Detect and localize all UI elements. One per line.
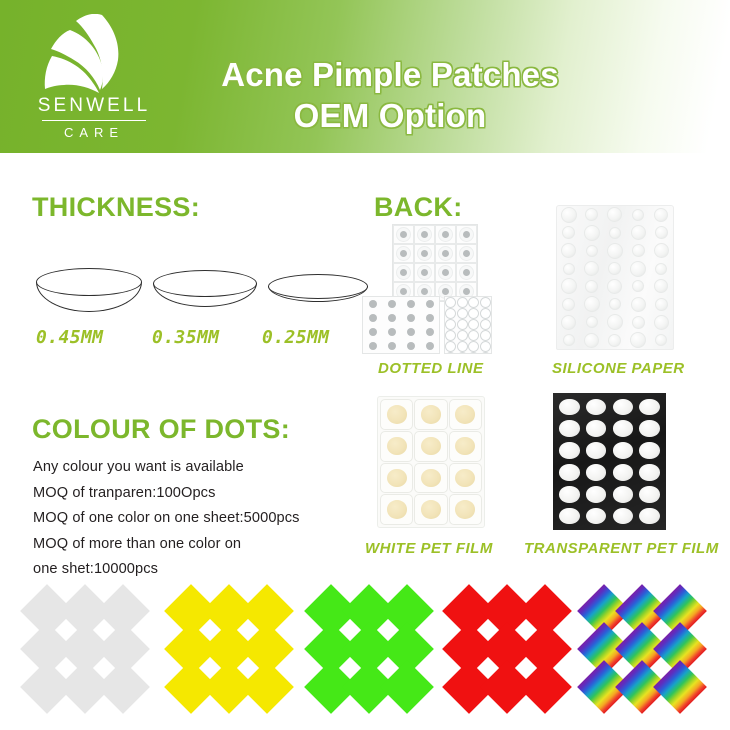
silicone-dot [586,316,598,328]
silicone-cell [580,206,603,224]
silicone-cell [557,206,580,224]
colour-line-5: one shet:10000pcs [33,557,373,583]
transparent-dot [613,486,633,503]
transparent-pet-cell [583,396,610,418]
thickness-label-025: 0.25MM [262,327,329,348]
silicone-cell [650,206,673,224]
transparent-pet-cell [636,462,663,484]
transparent-dot [559,508,579,525]
transparent-pet-cell [636,483,663,505]
patch-dot [369,314,377,322]
patch-dot [442,269,449,276]
transparent-pet-cell [556,396,583,418]
white-pet-patch [449,431,482,462]
hydrocolloid-dot [455,405,475,423]
silicone-dot [607,279,622,294]
transparent-dot [639,399,659,416]
swatch-diamond [653,660,707,714]
white-pet-patch [414,399,447,430]
patch-dot [421,231,428,238]
caption-silicone-paper: SILICONE PAPER [552,360,685,377]
patch-dot-cell [457,352,469,354]
white-pet-film-photo [377,396,485,528]
logo-wordmark: SENWELL [24,96,164,115]
silicone-cell [603,331,626,349]
colour-line-1: Any colour you want is available [33,455,373,481]
patch-dot-cell [382,311,401,325]
silicone-dot [608,334,621,347]
transparent-pet-cell [583,418,610,440]
colour-swatch-rainbow [585,592,707,710]
patch-outline-dot [445,308,456,319]
white-pet-patch [380,431,413,462]
silicone-cell [557,295,580,313]
back-heading: BACK: [374,192,463,223]
patch-dot-cell [457,341,469,352]
white-pet-patch [380,463,413,494]
silicone-dot [584,296,600,312]
white-pet-patch [449,399,482,430]
patch-dot [421,269,428,276]
silicone-dot [632,316,645,329]
transparent-dot [559,486,579,503]
patch-dot-cell [382,297,401,311]
patch-dot-cell [468,308,480,319]
patch-dot-cell [456,263,477,282]
dotted-line-sheet-right [444,296,492,354]
colour-line-4: MOQ of more than one color on [33,532,373,558]
silicone-cell [603,295,626,313]
silicone-cell [650,224,673,242]
patch-dot [463,231,470,238]
transparent-dot [586,399,606,416]
silicone-dot [607,314,623,330]
silicone-cell [580,331,603,349]
patch-outline-dot [457,308,468,319]
page-header: SENWELL CARE Acne Pimple Patches OEM Opt… [0,0,730,153]
white-pet-patch [414,431,447,462]
leaf-flame-icon [40,14,144,94]
silicone-dot [632,209,644,221]
silicone-cell [627,313,650,331]
colour-heading: COLOUR OF DOTS: [32,414,290,445]
transparent-dot [586,420,606,437]
transparent-dot [639,486,659,503]
patch-dot [388,342,396,350]
hydrocolloid-dot [421,405,441,423]
patch-dot [369,328,377,336]
swatch-diamond [240,660,294,714]
caption-transparent-pet-film: TRANSPARENT PET FILM [524,540,719,557]
silicone-cell [557,313,580,331]
patch-dot-cell [468,319,480,330]
patch-dot [442,250,449,257]
hydrocolloid-dot [421,469,441,487]
patch-outline-dot [468,352,479,354]
patch-dot-cell [457,330,469,341]
patch-dot-cell [363,325,382,339]
swatch-diamond [96,660,150,714]
silicone-cell [627,331,650,349]
silicone-dot [563,334,575,346]
silicone-dot [655,226,668,239]
silicone-cell [580,278,603,296]
thickness-heading: THICKNESS: [32,192,200,223]
patch-dot-cell [435,263,456,282]
silicone-cell [580,313,603,331]
transparent-dot [639,464,659,481]
silicone-dot [630,261,646,277]
patch-outline-dot [480,352,491,354]
silicone-dot [562,226,575,239]
white-pet-patch [449,494,482,525]
dotted-line-sheet-top [392,224,478,302]
silicone-cell [557,224,580,242]
patch-dot [400,269,407,276]
patch-dot-cell [363,297,382,311]
patch-dot-cell [468,352,480,354]
hydrocolloid-dot [387,469,407,487]
patch-dot-cell [457,297,469,308]
patch-dot-cell [457,319,469,330]
silicone-cell [603,260,626,278]
patch-outline-dot [457,341,468,352]
patch-dot [407,342,415,350]
patch-dot-cell [480,330,492,341]
transparent-dot [559,399,579,416]
transparent-pet-cell [610,396,637,418]
patch-dot-cell [445,330,457,341]
silicone-dot [585,280,598,293]
silicone-dot [607,243,623,259]
transparent-dot [639,420,659,437]
silicone-cell [650,260,673,278]
dotted-line-sheet-left [362,296,440,354]
patch-outline-dot [468,330,479,341]
patch-dot-cell [445,341,457,352]
hydrocolloid-dot [455,500,475,518]
patch-dot-cell [393,225,414,244]
colour-line-3: MOQ of one color on one sheet:5000pcs [33,506,373,532]
silicone-cell [580,295,603,313]
patch-outline-dot [468,308,479,319]
patch-dot-cell [401,311,420,325]
hydrocolloid-dot [387,405,407,423]
hydrocolloid-dot [421,437,441,455]
silicone-dot [654,243,669,258]
title-line-2: OEM Option [150,96,630,137]
transparent-dot [559,442,579,459]
patch-dot-cell [393,263,414,282]
silicone-dot [609,227,621,239]
patch-dot [388,328,396,336]
patch-dot [421,250,428,257]
transparent-pet-cell [636,418,663,440]
patch-dot [426,314,434,322]
hydrocolloid-dot [387,437,407,455]
transparent-pet-cell [610,418,637,440]
white-pet-patch [414,494,447,525]
silicone-cell [603,206,626,224]
silicone-dot [586,245,598,257]
silicone-dot [655,263,667,275]
transparent-pet-cell [636,440,663,462]
patch-dot-cell [393,244,414,263]
transparent-dot [559,420,579,437]
patch-dot-cell [435,244,456,263]
patch-dot-cell [468,330,480,341]
silicone-cell [650,278,673,296]
transparent-dot [559,464,579,481]
silicone-dot [631,297,646,312]
patch-dot-cell [456,225,477,244]
transparent-dot [613,399,633,416]
transparent-pet-cell [556,462,583,484]
disc-025 [268,274,368,312]
disc-045 [36,268,142,316]
patch-outline-dot [445,330,456,341]
silicone-dot [562,298,575,311]
patch-dot [407,300,415,308]
transparent-pet-cell [610,483,637,505]
patch-dot-cell [480,308,492,319]
transparent-pet-cell [636,505,663,527]
silicone-cell [603,224,626,242]
silicone-cell [650,242,673,260]
patch-outline-dot [457,297,468,308]
patch-dot-cell [414,225,435,244]
transparent-pet-cell [556,505,583,527]
patch-dot [400,250,407,257]
silicone-cell [580,260,603,278]
white-pet-patch [380,494,413,525]
thickness-label-045: 0.45MM [36,327,103,348]
silicone-cell [580,242,603,260]
transparent-dot [586,442,606,459]
silicone-dot [608,262,621,275]
silicone-dot [585,208,598,221]
silicone-cell [650,313,673,331]
patch-dot [463,269,470,276]
patch-dot [426,328,434,336]
logo-subtext: CARE [24,126,164,139]
patch-dot-cell [445,297,457,308]
patch-outline-dot [445,319,456,330]
patch-dot-cell [480,341,492,352]
silicone-dot [561,207,577,223]
silicone-cell [580,224,603,242]
hydrocolloid-dot [387,500,407,518]
patch-dot-cell [401,297,420,311]
transparent-pet-cell [556,440,583,462]
patch-dot-cell [414,244,435,263]
transparent-dot [613,464,633,481]
transparent-pet-cell [610,462,637,484]
transparent-dot [613,508,633,525]
silicone-dot [632,280,644,292]
patch-dot [400,231,407,238]
transparent-pet-cell [556,418,583,440]
patch-dot-cell [420,297,439,311]
silicone-cell [603,278,626,296]
patch-outline-dot [445,352,456,354]
patch-dot [388,300,396,308]
silicone-cell [627,206,650,224]
title-line-1: Acne Pimple Patches [221,56,559,93]
hydrocolloid-dot [455,437,475,455]
transparent-dot [639,442,659,459]
colour-swatch-green [312,592,434,710]
silicone-cell [603,242,626,260]
transparent-pet-film-photo [553,393,666,530]
swatch-diamond [518,660,572,714]
patch-dot [421,288,428,295]
logo-divider [42,120,146,121]
silicone-cell [650,331,673,349]
transparent-dot [586,464,606,481]
transparent-pet-cell [610,440,637,462]
silicone-dot [631,225,646,240]
patch-dot-cell [401,325,420,339]
brand-logo: SENWELL CARE [24,14,164,142]
patch-outline-dot [457,352,468,354]
patch-dot-cell [420,311,439,325]
patch-dot-cell [456,244,477,263]
patch-outline-dot [468,297,479,308]
patch-dot [369,300,377,308]
patch-dot-cell [480,319,492,330]
transparent-dot [613,420,633,437]
silicone-dot [584,261,599,276]
silicone-cell [627,278,650,296]
patch-dot-cell [435,225,456,244]
patch-outline-dot [445,297,456,308]
transparent-pet-cell [583,483,610,505]
hydrocolloid-dot [455,469,475,487]
caption-dotted-line: DOTTED LINE [378,360,484,377]
silicone-dot [655,298,668,311]
patch-outline-dot [480,319,491,330]
patch-dot [442,231,449,238]
patch-outline-dot [457,319,468,330]
patch-dot-cell [414,263,435,282]
patch-outline-dot [457,330,468,341]
silicone-dot [609,298,621,310]
patch-dot-cell [480,297,492,308]
patch-dot-cell [445,352,457,354]
silicone-cell [603,313,626,331]
patch-dot-cell [457,308,469,319]
white-pet-patch [380,399,413,430]
patch-dot-cell [468,297,480,308]
patch-dot-cell [480,352,492,354]
patch-dot-cell [420,339,439,353]
patch-outline-dot [480,341,491,352]
transparent-pet-cell [583,440,610,462]
patch-dot-cell [445,319,457,330]
thickness-label-035: 0.35MM [152,327,219,348]
silicone-dot [630,332,646,348]
transparent-pet-cell [556,483,583,505]
white-pet-patch [414,463,447,494]
silicone-cell [557,242,580,260]
silicone-dot [654,279,668,293]
silicone-cell [557,331,580,349]
patch-outline-dot [480,308,491,319]
silicone-dot [655,334,667,346]
colour-swatch-red [450,592,572,710]
silicone-dot [654,315,669,330]
patch-dot [442,288,449,295]
transparent-pet-cell [583,505,610,527]
transparent-pet-cell [610,505,637,527]
white-pet-patch [449,463,482,494]
colour-line-2: MOQ of tranparen:100Opcs [33,481,373,507]
silicone-cell [627,224,650,242]
patch-dot-cell [401,339,420,353]
patch-dot [369,342,377,350]
patch-dot-cell [382,339,401,353]
silicone-dot [654,208,668,222]
caption-white-pet-film: WHITE PET FILM [365,540,493,557]
hydrocolloid-dot [421,500,441,518]
patch-dot-cell [363,311,382,325]
silicone-dot [632,244,645,257]
patch-dot [426,342,434,350]
colour-swatch-yellow [172,592,294,710]
silicone-cell [627,260,650,278]
thickness-disc-row [28,262,358,322]
transparent-dot [639,508,659,525]
patch-dot [463,250,470,257]
patch-dot [388,314,396,322]
transparent-dot [586,486,606,503]
patch-dot-cell [382,325,401,339]
silicone-dot [561,243,576,258]
patch-outline-dot [480,330,491,341]
silicone-cell [627,242,650,260]
patch-dot [400,288,407,295]
silicone-dot [561,278,577,294]
silicone-dot [584,225,600,241]
page-title: Acne Pimple Patches OEM Option [150,55,630,136]
transparent-pet-cell [636,396,663,418]
colour-swatch-white [28,592,150,710]
patch-dot-cell [363,339,382,353]
transparent-dot [613,442,633,459]
patch-outline-dot [445,341,456,352]
transparent-dot [586,508,606,525]
patch-outline-dot [468,319,479,330]
patch-dot-cell [445,308,457,319]
patch-dot [407,328,415,336]
silicone-cell [557,260,580,278]
patch-outline-dot [468,341,479,352]
silicone-paper-sheet [556,205,674,350]
patch-outline-dot [480,297,491,308]
transparent-pet-cell [583,462,610,484]
silicone-dot [584,333,599,348]
silicone-dot [563,263,575,275]
patch-dot [463,288,470,295]
silicone-cell [557,278,580,296]
silicone-cell [650,295,673,313]
patch-dot-cell [468,341,480,352]
silicone-dot [561,315,576,330]
silicone-cell [627,295,650,313]
patch-dot [426,300,434,308]
patch-dot-cell [420,325,439,339]
